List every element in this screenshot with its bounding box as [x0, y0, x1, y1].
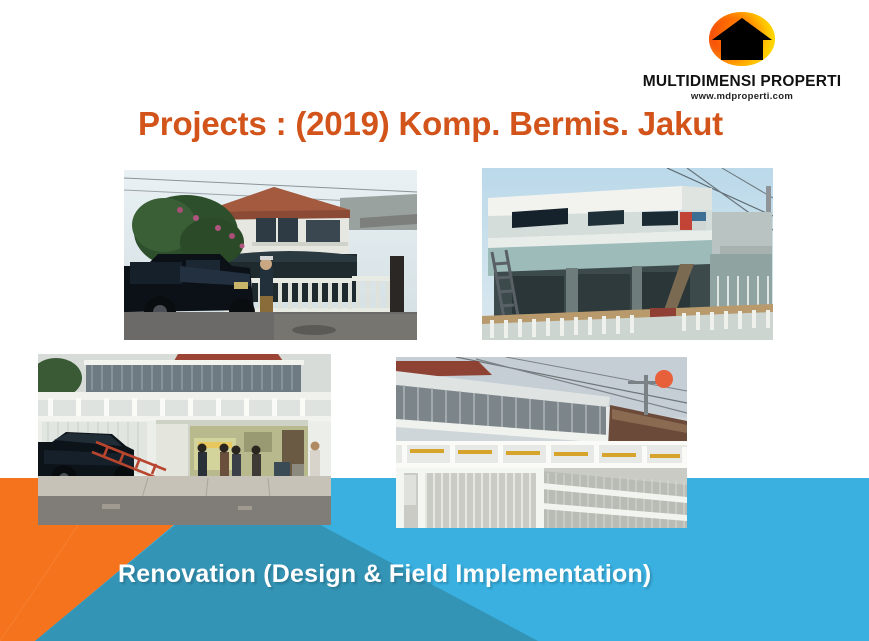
page-title: Projects : (2019) Komp. Bermis. Jakut: [138, 105, 723, 143]
footer-caption: Renovation (Design & Field Implementatio…: [118, 560, 651, 589]
house-in-oval-logo-icon: [701, 8, 783, 70]
presentation-slide: MULTIDIMENSI PROPERTI www.mdproperti.com…: [0, 0, 869, 641]
project-photo-3: [38, 354, 331, 525]
company-website: www.mdproperti.com: [627, 91, 857, 102]
project-photo-2: [482, 168, 773, 340]
company-name: MULTIDIMENSI PROPERTI: [627, 74, 857, 90]
project-photo-4: [396, 357, 687, 528]
company-logo: MULTIDIMENSI PROPERTI www.mdproperti.com: [627, 8, 857, 102]
project-photo-1: [124, 170, 417, 340]
